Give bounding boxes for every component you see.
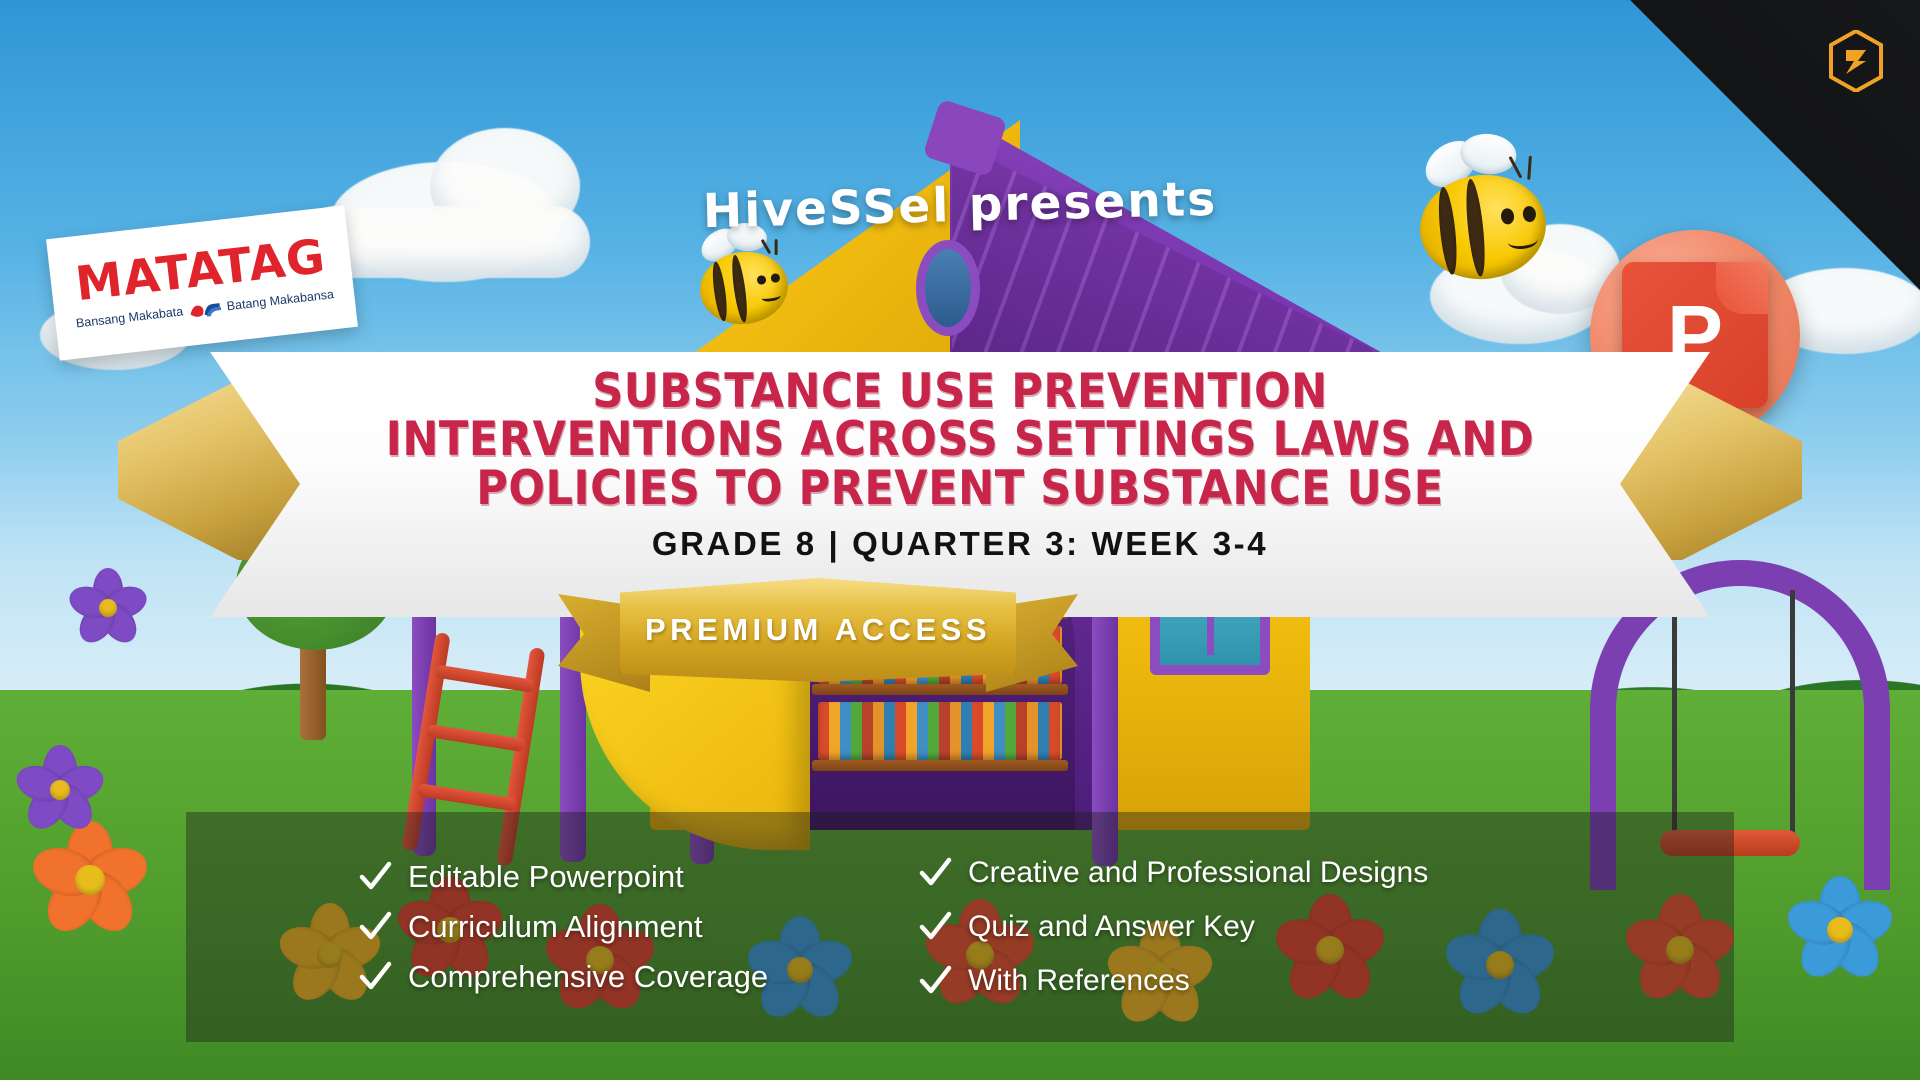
title-block: SUBSTANCE USE PREVENTION INTERVENTIONS A…	[268, 368, 1652, 563]
house-window-icon	[916, 240, 980, 336]
list-item: Editable Powerpoint	[358, 859, 846, 895]
feature-label: Creative and Professional Designs	[968, 856, 1428, 890]
feature-label: Comprehensive Coverage	[408, 959, 768, 995]
premium-access-label: PREMIUM ACCESS	[620, 578, 1016, 682]
check-icon	[918, 856, 952, 890]
feature-label: Editable Powerpoint	[408, 859, 684, 895]
list-item: Creative and Professional Designs	[918, 856, 1606, 890]
list-item: Quiz and Answer Key	[918, 910, 1606, 944]
check-icon	[918, 964, 952, 998]
matatag-hands-icon	[187, 297, 223, 321]
page-title-line-2: INTERVENTIONS ACROSS SETTINGS LAWS AND	[254, 416, 1666, 464]
grade-quarter-subtitle: GRADE 8 | QUARTER 3: WEEK 3-4	[268, 525, 1652, 563]
list-item: Comprehensive Coverage	[358, 959, 846, 995]
page-title-line-1: SUBSTANCE USE PREVENTION	[254, 368, 1666, 416]
page-title-line-3: POLICIES TO PREVENT SUBSTANCE USE	[254, 465, 1666, 513]
list-item: With References	[918, 964, 1606, 998]
promo-graphic: MATATAG Bansang Makabata Batang Makabans…	[0, 0, 1920, 1080]
check-icon	[358, 910, 392, 944]
list-item: Curriculum Alignment	[358, 909, 846, 945]
feature-label: With References	[968, 964, 1190, 998]
premium-ribbon: PREMIUM ACCESS	[558, 578, 1078, 708]
swing-rope	[1790, 590, 1795, 838]
feature-label: Quiz and Answer Key	[968, 910, 1255, 944]
check-icon	[358, 860, 392, 894]
feature-list-bar: Editable Powerpoint Curriculum Alignment…	[186, 812, 1734, 1042]
check-icon	[358, 960, 392, 994]
swing-rope	[1672, 590, 1677, 838]
bee-icon	[695, 246, 792, 330]
hexagon-logo-icon	[1828, 30, 1884, 92]
feature-label: Curriculum Alignment	[408, 909, 703, 945]
check-icon	[918, 910, 952, 944]
feature-column-right: Creative and Professional Designs Quiz a…	[846, 856, 1606, 998]
feature-column-left: Editable Powerpoint Curriculum Alignment…	[186, 859, 846, 995]
